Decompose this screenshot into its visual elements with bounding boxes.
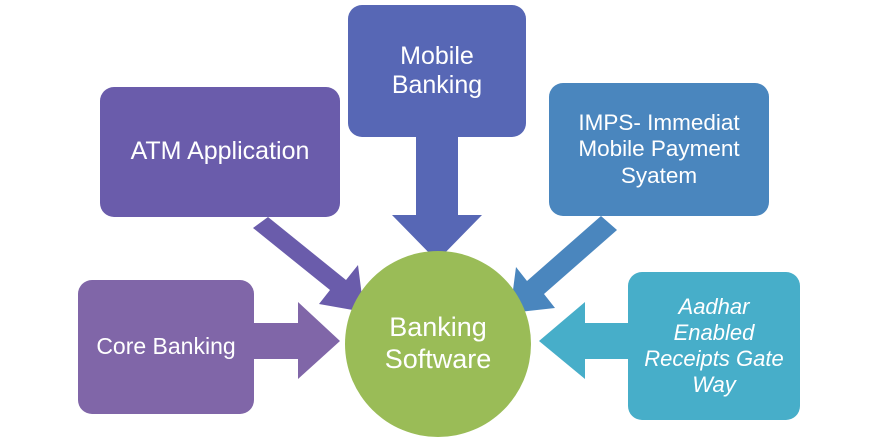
arrow-imps-to-center (510, 216, 617, 313)
node-atm-application[interactable]: ATM Application (100, 87, 340, 217)
arrow-aadhar-to-center (539, 302, 628, 379)
arrow-core-to-center (254, 302, 340, 379)
node-mobile-banking[interactable]: Mobile Banking (348, 5, 526, 137)
node-atm-application-label: ATM Application (108, 137, 332, 167)
node-aadhar-gateway[interactable]: Aadhar Enabled Receipts Gate Way (628, 272, 800, 420)
node-aadhar-gateway-label: Aadhar Enabled Receipts Gate Way (636, 294, 792, 398)
node-banking-software-label: Banking Software (353, 312, 523, 376)
node-mobile-banking-label: Mobile Banking (356, 42, 518, 101)
node-imps-label: IMPS- Immediat Mobile Payment Syatem (557, 110, 761, 190)
arrow-atm-to-center (253, 217, 364, 312)
node-core-banking-label: Core Banking (86, 333, 246, 360)
diagram-canvas: ATM Application Mobile Banking IMPS- Imm… (0, 0, 869, 437)
node-banking-software[interactable]: Banking Software (345, 251, 531, 437)
node-imps[interactable]: IMPS- Immediat Mobile Payment Syatem (549, 83, 769, 216)
arrow-mobile-to-center (392, 137, 482, 261)
node-core-banking[interactable]: Core Banking (78, 280, 254, 414)
